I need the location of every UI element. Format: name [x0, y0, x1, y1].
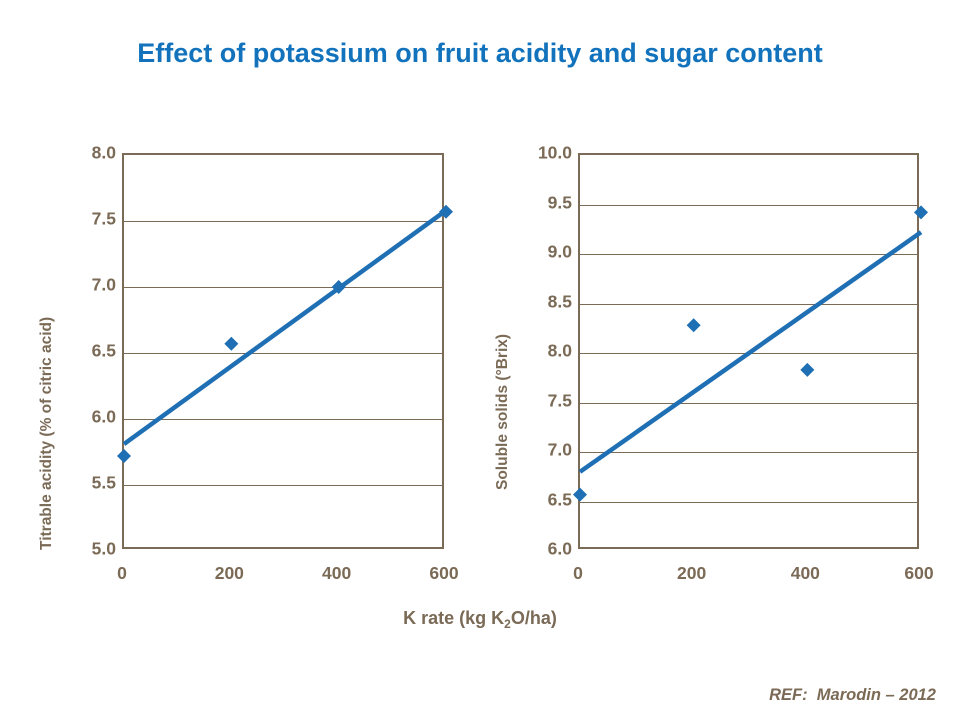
y-axis-title-right: Soluble solids (°Brix) [494, 334, 512, 490]
data-point-marker [800, 363, 814, 377]
series-left [124, 155, 446, 551]
data-point-marker [224, 337, 238, 351]
x-tick-label: 0 [550, 563, 606, 584]
y-tick-label: 9.0 [516, 242, 572, 263]
y-axis-title-left: Titrable acidity (% of citric acid) [38, 317, 56, 550]
x-axis-title: K rate (kg K2O/ha) [0, 608, 960, 629]
x-tick-label: 600 [416, 563, 472, 584]
y-tick-label: 6.5 [516, 489, 572, 510]
trendline [124, 210, 446, 444]
x-tick-label: 200 [201, 563, 257, 584]
y-tick-label: 6.0 [60, 407, 116, 428]
y-tick-label: 7.5 [60, 209, 116, 230]
y-tick-label: 7.5 [516, 390, 572, 411]
x-tick-label: 200 [664, 563, 720, 584]
x-axis-title-main: K rate (kg K [403, 608, 504, 628]
y-tick-label: 8.5 [516, 291, 572, 312]
trendline [580, 232, 921, 472]
x-axis-title-tail: O/ha) [511, 608, 557, 628]
y-tick-label: 6.5 [60, 341, 116, 362]
y-tick-label: 6.0 [516, 539, 572, 560]
chart-titrable-acidity: Titrable acidity (% of citric acid) 8.07… [20, 130, 480, 590]
series-right [580, 155, 921, 551]
data-point-marker [687, 318, 701, 332]
y-tick-label: 5.0 [60, 539, 116, 560]
x-axis-title-subscript: 2 [504, 617, 511, 631]
chart-soluble-solids: Soluble solids (°Brix) 10.09.59.08.58.07… [480, 130, 940, 590]
data-point-marker [914, 205, 928, 219]
x-tick-label: 600 [891, 563, 947, 584]
page-title: Effect of potassium on fruit acidity and… [0, 38, 960, 69]
y-tick-label: 7.0 [60, 275, 116, 296]
y-tick-label: 8.0 [516, 341, 572, 362]
reference-note: REF: Marodin – 2012 [769, 686, 936, 705]
y-tick-label: 7.0 [516, 440, 572, 461]
y-tick-label: 8.0 [60, 143, 116, 164]
y-tick-label: 10.0 [516, 143, 572, 164]
plot-area-left [122, 153, 444, 549]
x-tick-label: 0 [94, 563, 150, 584]
data-point-marker [117, 449, 131, 463]
y-tick-label: 9.5 [516, 192, 572, 213]
data-point-marker [573, 488, 587, 502]
x-tick-label: 400 [777, 563, 833, 584]
x-tick-label: 400 [309, 563, 365, 584]
y-tick-label: 5.5 [60, 473, 116, 494]
plot-area-right [578, 153, 919, 549]
